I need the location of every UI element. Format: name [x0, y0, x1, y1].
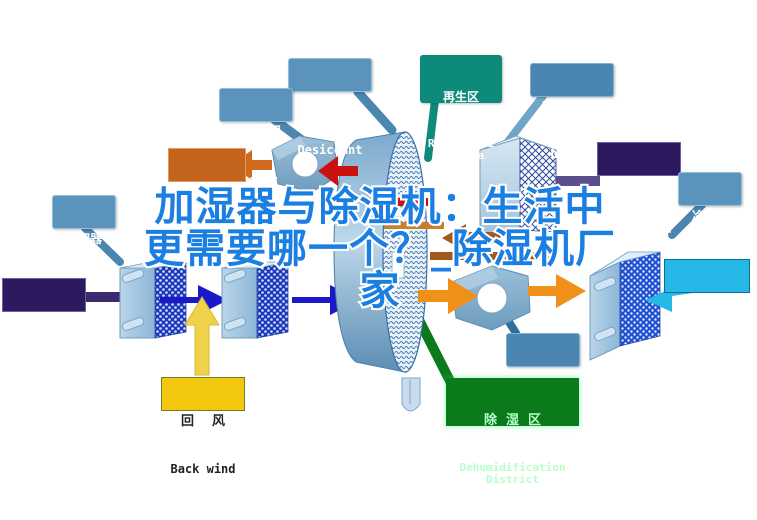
overlay-title-line3: 家 [125, 270, 635, 312]
label-air-supply-en: Air Supply [665, 345, 749, 358]
label-regeneration-blower-cn: 再生风机 [220, 126, 292, 140]
diagram-canvas: x1 [0, 0, 757, 488]
label-regeneration-area-cn: 再生区 [420, 91, 502, 104]
label-cooler-left-cn: 冷却器 [53, 233, 115, 246]
label-dehumidification-district-en: Dehumidification District [446, 462, 579, 486]
overlay-title-line1: 加湿器与除湿机：生活中 [125, 186, 635, 228]
label-air-supply: 送 风 Air Supply [664, 259, 750, 293]
label-back-wind-cn: 回 风 [162, 415, 244, 429]
label-regeneration-fresh-air-in: 再生风进 Fresh Air [597, 142, 681, 176]
label-fresh-air-in-cn: 新 风 [3, 316, 85, 330]
label-cooler-right: 冷却器 Cooler [678, 172, 742, 206]
label-dehumidification-blower: 除湿风机 Blower [506, 333, 580, 367]
label-regeneration-blower: 再生风机 Blower [219, 88, 293, 122]
label-air-supply-cn: 送 风 [665, 297, 749, 311]
label-fresh-air-in: 新 风 Fresh Air [2, 278, 86, 312]
label-regeneration-exhaust: 再生风出 Exhaust [168, 148, 246, 182]
label-regeneration-area: 再生区 Regenerati on Area [420, 55, 502, 103]
label-regeneration-heater: 再生加热器 heater [530, 63, 614, 97]
label-cooler-left: 冷却器 Cooler [52, 195, 116, 229]
label-cooler-right-cn: 冷却器 [679, 210, 741, 223]
label-desiccant-wheel: 除湿转轮 Desiccant [288, 58, 372, 92]
label-back-wind: 回 风 Back wind [161, 377, 245, 411]
label-regeneration-area-en: Regenerati on Area [420, 138, 502, 162]
label-fresh-air-in-en: Fresh Air [3, 364, 85, 377]
drain-scoop [402, 378, 420, 411]
label-dehumidification-district: 除 湿 区 Dehumidification District [446, 378, 579, 426]
label-regeneration-heater-cn: 再生加热器 [531, 101, 613, 114]
overlay-title: 加湿器与除湿机：生活中 更需要哪一个？_除湿机厂 家 [125, 186, 635, 312]
overlay-title-line2: 更需要哪一个？_除湿机厂 [125, 228, 635, 270]
label-desiccant-wheel-cn: 除湿转轮 [289, 96, 371, 110]
label-desiccant-wheel-en: Desiccant [289, 144, 371, 157]
label-back-wind-en: Back wind [162, 463, 244, 476]
label-dehumidification-district-cn: 除 湿 区 [446, 414, 579, 428]
